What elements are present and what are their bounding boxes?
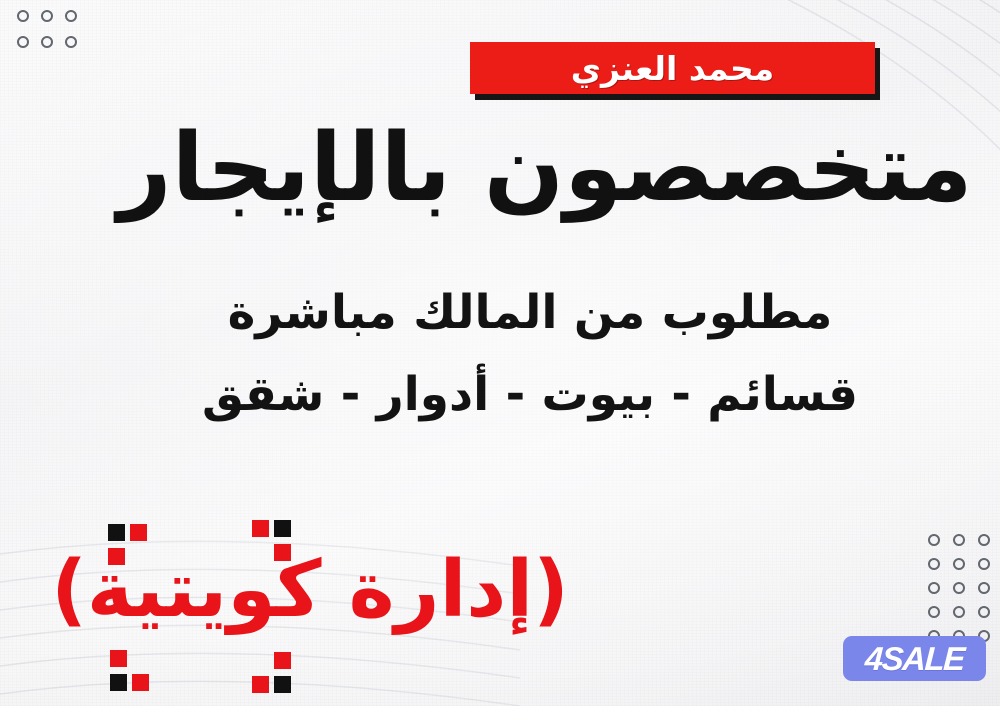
decor-square-black — [274, 676, 291, 693]
decor-square-black — [108, 524, 125, 541]
decor-squares-bottom-right — [252, 652, 296, 696]
advertiser-name: محمد العنزي — [571, 52, 774, 85]
decor-square-black — [110, 674, 127, 691]
decor-square-red — [110, 650, 127, 667]
decor-square-red — [252, 676, 269, 693]
subtitle-property-types: قسائم - بيوت - أدوار - شقق — [0, 367, 1000, 422]
ring-dot-icon — [13, 6, 32, 25]
ring-dot-icon — [924, 530, 943, 549]
decor-squares-bottom-left — [110, 650, 154, 694]
ring-dot-icon — [949, 602, 968, 621]
ring-dot-icon — [924, 578, 943, 597]
decor-square-red — [252, 520, 269, 537]
subtitle-owner-direct: مطلوب من المالك مباشرة — [0, 285, 1000, 340]
decor-square-red — [132, 674, 149, 691]
advertisement-card: محمد العنزي متخصصون بالإيجار مطلوب من ال… — [0, 0, 1000, 706]
page-title: متخصصون بالإيجار — [0, 116, 1000, 221]
ring-dot-icon — [974, 530, 993, 549]
ring-dot-icon — [949, 530, 968, 549]
ring-dot-icon — [949, 578, 968, 597]
ring-dot-icon — [61, 32, 80, 51]
dot-grid-right — [918, 530, 993, 650]
ring-dot-icon — [61, 6, 80, 25]
ring-dot-icon — [37, 6, 56, 25]
ring-dot-icon — [949, 554, 968, 573]
decor-square-black — [274, 520, 291, 537]
ring-dot-icon — [974, 578, 993, 597]
ring-dot-icon — [37, 32, 56, 51]
decor-square-red — [274, 652, 291, 669]
advertiser-name-banner: محمد العنزي — [470, 42, 875, 94]
ring-dot-icon — [924, 602, 943, 621]
ring-dot-icon — [924, 554, 943, 573]
ring-dot-icon — [974, 602, 993, 621]
4sale-logo-text: 4SALE — [864, 642, 965, 675]
4sale-watermark-logo: 4SALE — [843, 636, 986, 681]
dot-grid-top-left — [8, 6, 80, 58]
management-note: (إدارة كويتية) — [10, 548, 610, 634]
ring-dot-icon — [974, 554, 993, 573]
ring-dot-icon — [13, 32, 32, 51]
decor-square-red — [130, 524, 147, 541]
